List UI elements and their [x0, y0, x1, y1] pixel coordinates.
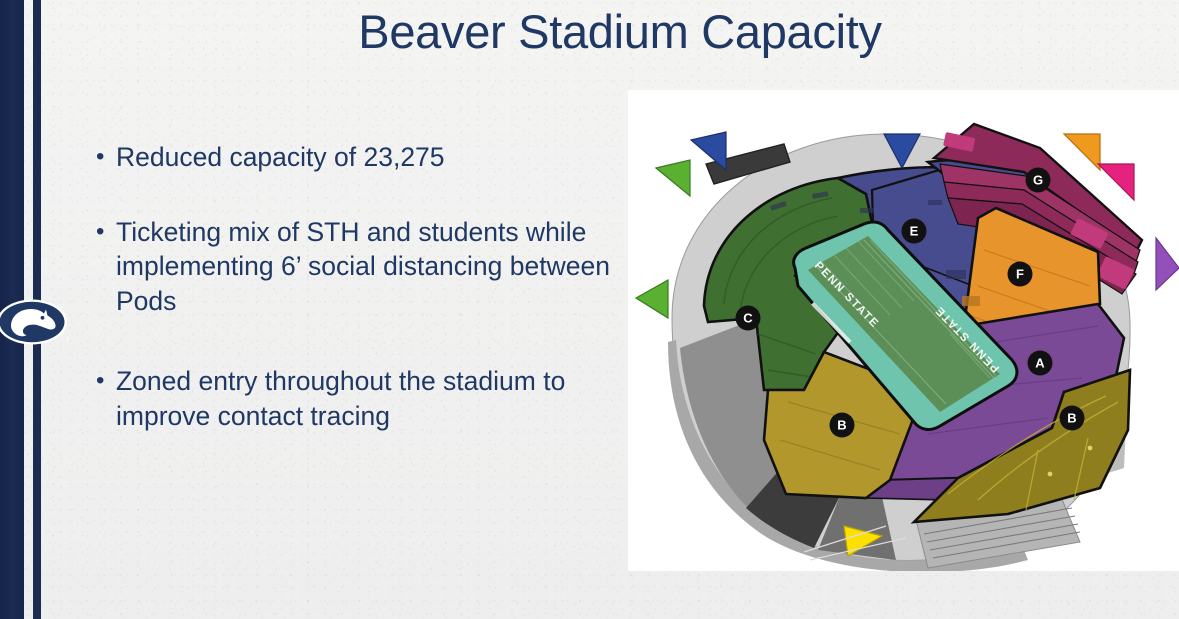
bullet-text: Zoned entry throughout the stadium to im…	[116, 364, 616, 433]
zone-badge-a-label: A	[1035, 356, 1045, 371]
bullet-marker-icon: •	[96, 364, 116, 397]
zone-badge-f-label: F	[1016, 267, 1024, 282]
list-item: • Ticketing mix of STH and students whil…	[96, 215, 616, 319]
zone-badge-e-label: E	[910, 224, 919, 239]
zone-b-east-marker	[1088, 446, 1093, 451]
bullet-marker-icon: •	[96, 140, 116, 173]
zone-badge-g[interactable]: G	[1026, 168, 1051, 193]
zone-badge-f[interactable]: F	[1008, 262, 1033, 287]
penn-state-logo: ®	[0, 296, 72, 348]
zone-badge-b-west-label: B	[837, 418, 846, 433]
zone-badge-e[interactable]: E	[902, 219, 927, 244]
bullet-marker-icon: •	[96, 215, 116, 248]
bullet-text: Ticketing mix of STH and students while …	[116, 215, 616, 319]
bullet-text: Reduced capacity of 23,275	[116, 140, 616, 175]
stadium-map-image: PENN STATE PENN STATE C E G	[628, 90, 1179, 571]
slide-canvas: ® Beaver Stadium Capacity • Reduced capa…	[0, 0, 1179, 619]
zone-badge-c[interactable]: C	[736, 306, 761, 331]
zone-f-structure	[962, 296, 980, 306]
entry-arrow-purple-east[interactable]	[1156, 238, 1179, 290]
zone-badge-g-label: G	[1033, 173, 1043, 188]
zone-badge-c-label: C	[743, 311, 753, 326]
page-title: Beaver Stadium Capacity	[300, 2, 940, 62]
zone-badge-b-east-label: B	[1067, 411, 1076, 426]
list-item: • Reduced capacity of 23,275	[96, 140, 616, 175]
entry-arrow-green-west[interactable]	[636, 280, 668, 318]
zone-badge-a[interactable]: A	[1028, 351, 1053, 376]
svg-text:®: ®	[66, 336, 70, 343]
list-item: • Zoned entry throughout the stadium to …	[96, 364, 616, 433]
entry-arrow-pink-northeast[interactable]	[1098, 164, 1134, 200]
entry-arrow-green-northwest[interactable]	[656, 160, 690, 196]
entry-arrow-orange-northeast[interactable]	[1064, 134, 1100, 170]
zone-b-east-marker	[1048, 472, 1053, 477]
bullet-list: • Reduced capacity of 23,275 • Ticketing…	[96, 140, 616, 433]
zone-badge-b-east[interactable]: B	[1060, 406, 1085, 431]
zone-badge-b-west[interactable]: B	[830, 413, 855, 438]
